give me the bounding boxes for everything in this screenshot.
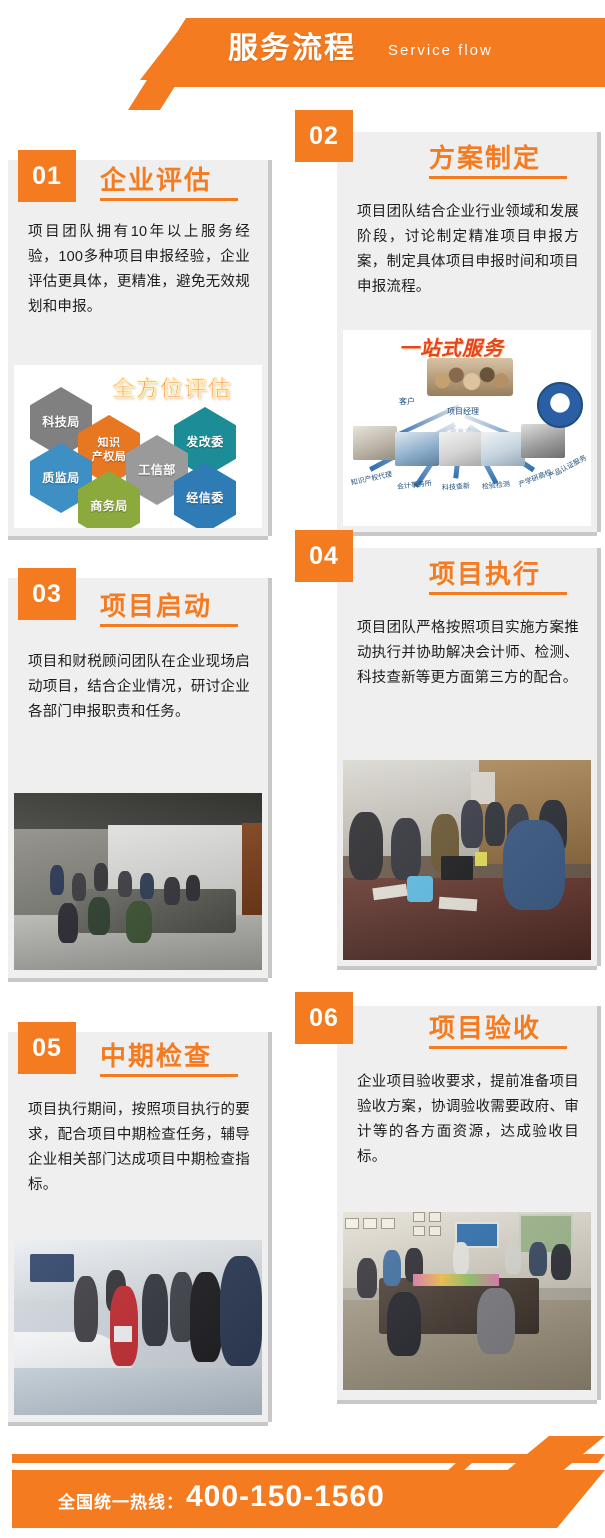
photo-papers [439,897,478,912]
card-05-body: 项目执行期间，按照项目执行的要求，配合项目中期检查任务，辅导企业相关部门达成项目… [28,1098,250,1198]
photo-person [461,800,483,848]
card-02-title-rule [429,176,567,179]
card-04-title: 项目执行 [429,554,541,591]
photo-person [477,1288,515,1354]
photo-certificate-frame [345,1218,359,1229]
one-stop-service-label-testing: 检验检测 [481,479,510,492]
one-stop-node-university [521,424,565,458]
header-underbar [153,78,605,87]
photo-certificate-frame [381,1218,395,1229]
card-06-title: 项目验收 [429,1008,541,1045]
photo-certificate-frame [429,1212,441,1222]
card-01-body: 项目团队拥有10年以上服务经验，100多种项目申报经验，企业评估更具体，更精准，… [28,220,250,320]
photo-person [349,812,383,880]
card-04-photo [343,760,591,960]
one-stop-node-testing [481,432,525,466]
card-05-number-badge: 05 [18,1022,76,1074]
photo-person [164,877,180,905]
photo-person [387,1292,421,1356]
card-01-title-rule [100,198,238,201]
photo-sticky-note [475,852,487,866]
page-footer: 全国统一热线： 400-150-1560 [0,1418,605,1538]
photo-person [58,903,78,943]
photo-person [485,802,505,846]
card-02-title: 方案制定 [429,138,541,175]
card-04-body: 项目团队严格按照项目实施方案推动执行并协助解决会计师、检测、科技查新等更方面第三… [357,616,579,691]
one-stop-node-accounting [395,432,439,466]
one-stop-service-label-accounting: 会计事务所 [396,478,432,492]
card-02-media: 一站式服务 客户 项目经理 ISO 知识产权代理 [343,330,591,526]
one-stop-label-manager: 项目经理 [447,406,479,417]
card-05: 05 中期检查 项目执行期间，按照项目执行的要求，配合项目中期检查任务，辅导企业… [8,1032,268,1422]
one-stop-service-label-search: 科技查新 [442,481,471,493]
photo-laptop [441,856,473,880]
card-03-title-rule [100,624,238,627]
card-01-media: 全方位评估 科技局 知识产权局 发改委 质监局 工信部 经信委 商务局 [14,365,262,528]
card-01-title: 企业评估 [100,160,212,197]
photo-person [357,1258,377,1298]
photo-person [88,897,110,935]
card-06-number-badge: 06 [295,992,353,1044]
photo-person-foreground [220,1256,262,1366]
hex-diagram-title: 全方位评估 [112,371,232,403]
one-stop-service-label-ip: 知识产权代理 [350,469,393,488]
page-subtitle: Service flow [388,40,493,62]
photo-flower-row [413,1274,499,1286]
photo-certificate-frame [413,1212,425,1222]
card-06: 06 项目验收 企业项目验收要求，提前准备项目验收方案，协调验收需要政府、审计等… [337,1006,597,1400]
card-03-title: 项目启动 [100,586,212,623]
photo-bag [407,876,433,902]
photo-person-foreground [503,820,565,910]
photo-person [126,901,152,943]
card-03: 03 项目启动 项目和财税顾问团队在企业现场启动项目，结合企业情况，研讨企业各部… [8,578,268,978]
photo-person [551,1244,571,1280]
photo-person [50,865,64,895]
photo-display-screen [30,1254,74,1282]
photo-person [383,1250,401,1286]
card-04-number-badge: 04 [295,530,353,582]
photo-person [94,863,108,891]
card-05-title: 中期检查 [100,1036,212,1073]
one-stop-title: 一站式服务 [399,332,504,361]
one-stop-node-search [439,432,483,466]
photo-person [529,1242,547,1276]
card-02: 02 方案制定 项目团队结合企业行业领域和发展阶段，讨论制定精准项目申报方案，制… [337,132,597,532]
photo-brochure [114,1326,132,1342]
photo-person [391,818,421,880]
header-bar [140,18,605,80]
card-02-body: 项目团队结合企业行业领域和发展阶段，讨论制定精准项目申报方案，制定具体项目申报时… [357,200,579,300]
card-06-photo [343,1212,591,1390]
hotline-number: 400-150-1560 [186,1480,385,1514]
card-01-number-badge: 01 [18,150,76,202]
photo-person [190,1272,222,1362]
footer-topline [12,1454,605,1463]
photo-floor [14,1368,262,1415]
hex-diagram: 全方位评估 科技局 知识产权局 发改委 质监局 工信部 经信委 商务局 [14,365,262,528]
card-03-body: 项目和财税顾问团队在企业现场启动项目，结合企业情况，研讨企业各部门申报职责和任务… [28,650,250,725]
one-stop-label-client: 客户 [399,396,415,407]
photo-person [72,873,86,901]
card-03-number-badge: 03 [18,568,76,620]
photo-person [142,1274,168,1346]
photo-person [186,875,200,901]
page-title: 服务流程 [228,28,356,70]
infographic-page: 服务流程 Service flow 01 企业评估 项目团队拥有10年以上服务经… [0,0,605,1538]
photo-person [505,1242,521,1274]
photo-person [74,1276,98,1342]
page-header: 服务流程 Service flow [0,0,605,110]
card-02-number-badge: 02 [295,110,353,162]
card-05-title-rule [100,1074,238,1077]
hotline-label: 全国统一热线： [58,1488,184,1513]
photo-certificate-frame [429,1226,441,1236]
card-03-photo [14,793,262,970]
one-stop-diagram: 一站式服务 客户 项目经理 ISO 知识产权代理 [343,330,591,526]
card-05-photo [14,1240,262,1415]
card-01: 01 企业评估 项目团队拥有10年以上服务经验，100多种项目申报经验，企业评估… [8,160,268,536]
one-stop-node-ip [353,426,397,460]
one-stop-iso-badge: ISO [537,382,583,428]
photo-certificate-frame [413,1226,425,1236]
photo-person [453,1242,469,1274]
photo-person [118,871,132,897]
card-04: 04 项目执行 项目团队严格按照项目实施方案推动执行并协助解决会计师、检测、科技… [337,548,597,966]
one-stop-center-photo [427,358,513,396]
photo-person [140,873,154,899]
card-06-title-rule [429,1046,567,1049]
photo-certificate-frame [363,1218,377,1229]
card-06-body: 企业项目验收要求，提前准备项目验收方案，协调验收需要政府、审计等的各方面资源，达… [357,1070,579,1170]
card-04-title-rule [429,592,567,595]
